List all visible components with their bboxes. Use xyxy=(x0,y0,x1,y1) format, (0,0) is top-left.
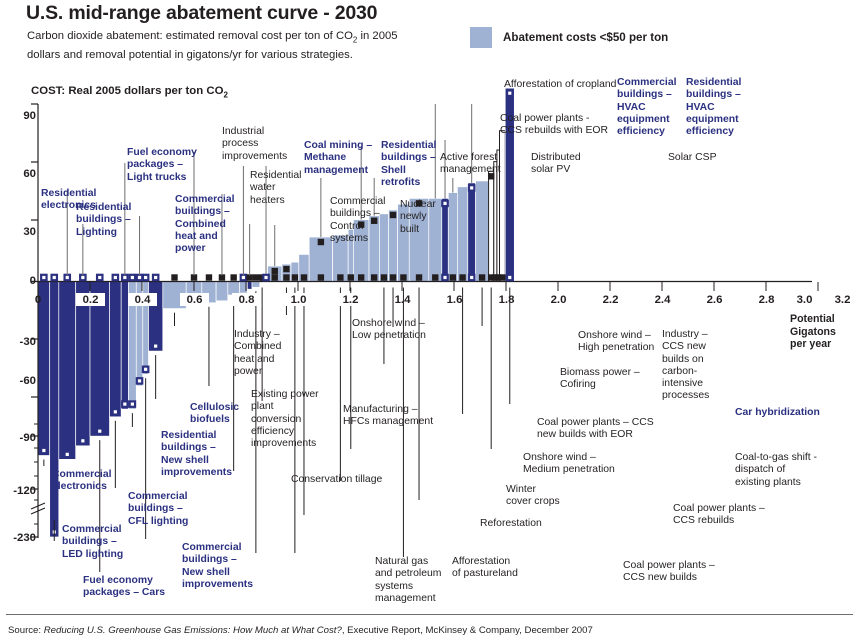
callout-anchor-marker xyxy=(122,401,127,406)
callout-anchor-marker xyxy=(381,275,386,280)
callout-anchor-marker xyxy=(130,401,135,406)
callout-industry-chp: Industry – Combined heat and power xyxy=(234,329,281,378)
callout-residential-hvac: Residential buildings – HVAC equipment e… xyxy=(686,77,741,138)
callout-coal-to-gas-shift: Coal-to-gas shift - dispatch of existing… xyxy=(735,452,817,489)
bar xyxy=(110,282,122,417)
callout-anchor-marker xyxy=(272,268,277,273)
callout-natural-gas-petroleum: Natural gas and petroleum systems manage… xyxy=(375,556,441,605)
callout-coal-ccs-new-builds-eor: Coal power plants – CCS new builds with … xyxy=(537,417,654,442)
callout-anchor-marker xyxy=(153,275,158,280)
bar xyxy=(247,282,252,290)
x-tick-06: 0.6 xyxy=(180,293,209,306)
callout-commercial-new-shell: Commercial buildings – New shell improve… xyxy=(182,542,253,591)
callout-biomass-cofiring: Biomass power – Cofiring xyxy=(560,367,640,392)
callout-fuel-economy-light-trucks: Fuel economy packages – Light trucks xyxy=(127,147,197,184)
callout-winter-cover-crops: Winter cover crops xyxy=(506,484,560,509)
callout-onshore-wind-high: Onshore wind – High penetration xyxy=(578,330,654,355)
bar xyxy=(448,193,457,282)
callout-anchor-marker xyxy=(122,275,127,280)
callout-residential-shell-retrofits: Residential buildings – Shell retrofits xyxy=(381,140,436,189)
callout-anchor-marker xyxy=(113,409,118,414)
callout-conservation-tillage: Conservation tillage xyxy=(291,474,382,486)
callout-anchor-marker xyxy=(231,275,236,280)
x-axis-caption: Potential Gigatons per year xyxy=(790,313,854,351)
callout-anchor-marker xyxy=(41,448,46,453)
callout-anchor-marker xyxy=(401,275,406,280)
bar xyxy=(457,187,467,282)
callout-anchor-marker xyxy=(450,275,455,280)
callout-distributed-solar-pv: Distributed solar PV xyxy=(531,152,581,177)
y-tick-0: 0 xyxy=(2,275,36,287)
callout-coal-ccs-new-builds: Coal power plants – CCS new builds xyxy=(623,560,715,585)
callout-commercial-cfl: Commercial buildings – CFL lighting xyxy=(128,491,188,528)
callout-anchor-marker xyxy=(137,378,142,383)
callout-afforestation-cropland: Afforestation of cropland xyxy=(504,79,616,91)
callout-nuclear-newly-built: Nuclear newly built xyxy=(400,199,436,236)
callout-coal-ccs-rebuilds-eor: Coal power plants - CCS rebuilds with EO… xyxy=(500,113,608,138)
callout-anchor-marker xyxy=(41,275,46,280)
y-tick-60: 60 xyxy=(2,168,36,180)
callout-anchor-marker xyxy=(284,275,289,280)
x-tick-02: 0.2 xyxy=(76,293,105,306)
y-tick-m60: -60 xyxy=(2,375,36,387)
callout-anchor-marker xyxy=(143,275,148,280)
callout-anchor-marker xyxy=(80,438,85,443)
callout-anchor-marker xyxy=(371,275,376,280)
callout-commercial-chp: Commercial buildings – Combined heat and… xyxy=(175,194,234,255)
bar xyxy=(442,198,449,281)
callout-anchor-marker xyxy=(247,275,252,280)
x-tick-0: 0 xyxy=(27,294,49,306)
callout-commercial-electronics: Commercial electronics xyxy=(52,469,111,494)
callout-anchor-marker xyxy=(143,367,148,372)
x-tick-26: 2.6 xyxy=(700,294,729,306)
callout-anchor-marker xyxy=(390,212,395,217)
callout-active-forest-management: Active forest management xyxy=(440,152,501,177)
source-title: Reducing U.S. Greenhouse Gas Emissions: … xyxy=(44,625,342,636)
x-tick-18: 1.8 xyxy=(492,294,521,306)
callout-anchor-marker xyxy=(206,275,211,280)
x-tick-14: 1.4 xyxy=(388,294,417,306)
callout-anchor-marker xyxy=(272,275,277,280)
x-tick-22: 2.2 xyxy=(596,294,625,306)
bar xyxy=(149,282,163,352)
callout-residential-new-shell: Residential buildings – New shell improv… xyxy=(161,430,232,479)
callout-commercial-led: Commercial buildings – LED lighting xyxy=(62,524,123,561)
callout-anchor-marker xyxy=(433,275,438,280)
callout-anchor-marker xyxy=(292,275,297,280)
x-tick-08: 0.8 xyxy=(232,293,261,306)
callout-fuel-economy-cars: Fuel economy packages – Cars xyxy=(83,575,165,600)
callout-anchor-marker xyxy=(113,275,118,280)
bar xyxy=(50,282,59,538)
x-tick-12: 1.2 xyxy=(336,293,365,306)
callout-anchor-marker xyxy=(390,275,395,280)
callout-anchor-marker xyxy=(284,266,289,271)
callout-anchor-marker xyxy=(263,275,268,280)
callout-anchor-marker xyxy=(137,275,142,280)
bar xyxy=(38,282,50,456)
y-tick-m90: -90 xyxy=(2,432,36,444)
y-tick-m30: -30 xyxy=(2,336,36,348)
callout-industrial-process: Industrial process improvements xyxy=(222,126,287,163)
callout-anchor-marker xyxy=(191,275,196,280)
callout-onshore-wind-low: Onshore wind – Low penetration xyxy=(352,318,426,343)
callout-anchor-marker xyxy=(500,275,505,280)
callout-residential-water-heaters: Residential water heaters xyxy=(250,170,301,207)
footer-divider xyxy=(6,614,853,615)
callout-anchor-marker xyxy=(348,275,353,280)
callout-anchor-marker xyxy=(460,275,465,280)
callout-car-hybridization: Car hybridization xyxy=(735,407,820,419)
callout-anchor-marker xyxy=(301,275,306,280)
callout-residential-lighting: Residential buildings – Lighting xyxy=(76,202,131,239)
callout-anchor-marker xyxy=(318,275,323,280)
callout-solar-csp: Solar CSP xyxy=(668,152,717,164)
callout-anchor-marker xyxy=(507,275,512,280)
callout-anchor-marker xyxy=(130,275,135,280)
callout-anchor-marker xyxy=(318,239,323,244)
bar xyxy=(216,282,228,301)
callout-anchor-marker xyxy=(469,275,474,280)
callout-anchor-marker xyxy=(469,185,474,190)
callout-anchor-marker xyxy=(52,275,57,280)
callout-anchor-marker xyxy=(338,275,343,280)
x-tick-20: 2.0 xyxy=(544,294,573,306)
y-tick-m120: -120 xyxy=(2,485,36,497)
x-tick-16: 1.6 xyxy=(440,294,469,306)
x-tick-30: 3.0 xyxy=(790,294,819,306)
callout-anchor-marker xyxy=(479,275,484,280)
x-tick-32: 3.2 xyxy=(828,294,857,306)
callout-anchor-marker xyxy=(65,452,70,457)
bar xyxy=(59,282,76,460)
callout-anchor-marker xyxy=(253,275,258,280)
callout-anchor-marker xyxy=(219,275,224,280)
bar xyxy=(388,210,397,282)
source-prefix: Source: xyxy=(8,625,44,636)
callout-anchor-marker xyxy=(65,275,70,280)
bar xyxy=(76,282,90,446)
callout-reforestation: Reforestation xyxy=(480,518,542,530)
callout-anchor-marker xyxy=(97,275,102,280)
callout-anchor-marker xyxy=(153,343,158,348)
bar xyxy=(476,181,489,282)
y-tick-m230: -230 xyxy=(2,532,36,544)
abatement-curve-figure: U.S. mid-range abatement curve - 2030 Ca… xyxy=(0,0,859,640)
source-note: Source: Reducing U.S. Greenhouse Gas Emi… xyxy=(8,625,593,636)
bar xyxy=(468,183,476,282)
callout-cellulosic-biofuels: Cellulosic biofuels xyxy=(190,402,239,427)
y-tick-30: 30 xyxy=(2,226,36,238)
callout-manufacturing-hfcs: Manufacturing – HFCs management xyxy=(343,404,433,429)
bar xyxy=(489,171,494,281)
callout-anchor-marker xyxy=(442,201,447,206)
x-tick-28: 2.8 xyxy=(752,294,781,306)
callout-anchor-marker xyxy=(97,428,102,433)
callout-existing-power-plant: Existing power plant conversion efficien… xyxy=(251,389,319,450)
callout-industry-ccs-new-builds: Industry – CCS new builds on carbon- int… xyxy=(662,329,709,403)
bar xyxy=(252,282,260,288)
x-tick-10: 1.0 xyxy=(284,293,313,306)
callout-afforestation-pastureland: Afforestation of pastureland xyxy=(452,556,518,581)
callout-anchor-marker xyxy=(80,275,85,280)
callout-anchor-marker xyxy=(172,275,177,280)
x-tick-24: 2.4 xyxy=(648,294,677,306)
callout-anchor-marker xyxy=(416,275,421,280)
callout-coal-ccs-rebuilds: Coal power plants – CCS rebuilds xyxy=(673,503,765,528)
callout-commercial-hvac: Commercial buildings – HVAC equipment ef… xyxy=(617,77,676,138)
callout-anchor-marker xyxy=(442,275,447,280)
callout-onshore-wind-medium: Onshore wind – Medium penetration xyxy=(523,452,615,477)
callout-coal-mining-methane: Coal mining – Methane management xyxy=(304,140,372,177)
source-rest: , Executive Report, McKinsey & Company, … xyxy=(342,625,593,636)
x-tick-04: 0.4 xyxy=(128,293,157,306)
callout-anchor-marker xyxy=(241,275,246,280)
callout-anchor-marker xyxy=(358,275,363,280)
y-tick-90: 90 xyxy=(2,110,36,122)
callout-commercial-control-systems: Commercial buildings – Control systems xyxy=(330,196,385,245)
